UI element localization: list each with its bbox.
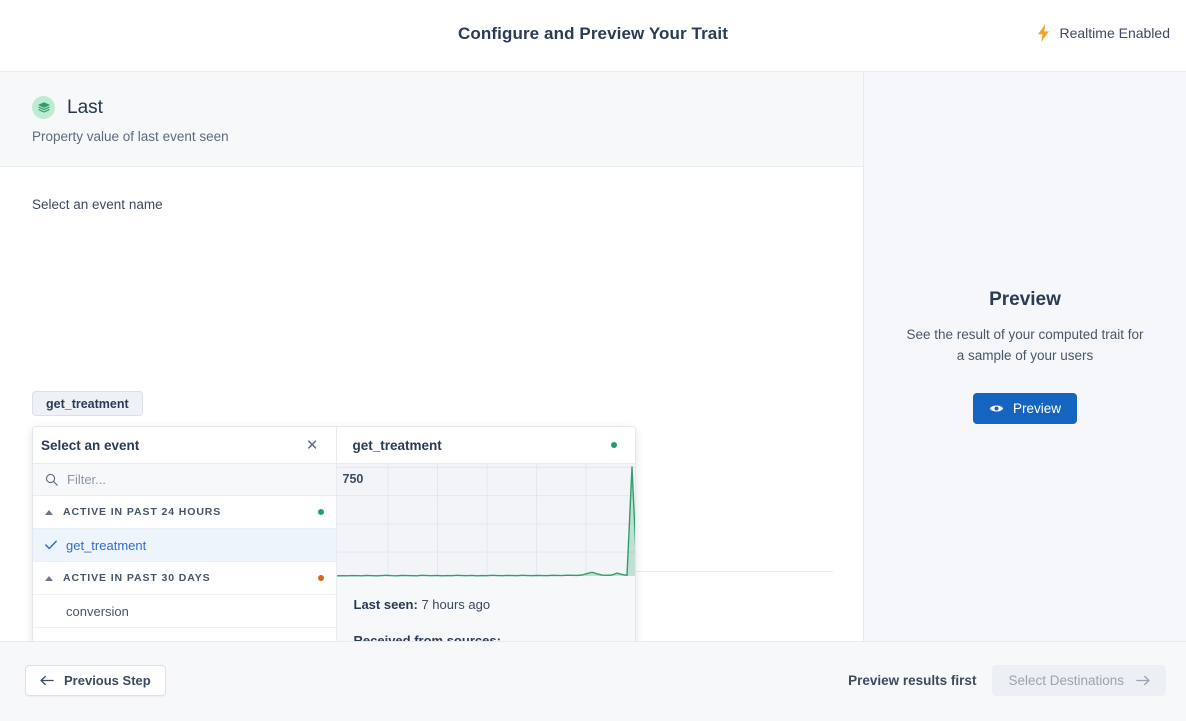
trait-description: Property value of last event seen — [32, 129, 863, 144]
event-name-label: Select an event name — [32, 197, 163, 212]
realtime-label: Realtime Enabled — [1059, 25, 1170, 41]
chevron-up-icon — [45, 576, 53, 581]
preview-side-panel: Preview See the result of your computed … — [863, 72, 1186, 641]
event-group-label-2: ACTIVE IN PAST 30 DAYS — [63, 572, 308, 584]
arrow-right-icon — [1136, 675, 1150, 686]
lightning-bolt-icon — [1037, 24, 1050, 42]
preview-button[interactable]: Preview — [973, 393, 1077, 424]
previous-step-button[interactable]: Previous Step — [25, 665, 166, 696]
filter-row[interactable] — [33, 464, 336, 496]
arrow-left-icon — [40, 675, 54, 686]
event-option-label: get_treatment — [66, 538, 146, 553]
event-list-header: Select an event ✕ — [33, 427, 336, 464]
preview-button-label: Preview — [1013, 401, 1061, 416]
selected-event-chip[interactable]: get_treatment — [32, 391, 143, 416]
layers-stack-icon — [32, 96, 55, 119]
select-destinations-button[interactable]: Select Destinations — [992, 665, 1166, 696]
footer-right-group: Preview results first Select Destination… — [848, 665, 1166, 696]
event-volume-chart: 750 — [337, 464, 636, 576]
sparkline-svg — [337, 464, 637, 577]
event-detail-title: get_treatment — [353, 438, 442, 453]
last-seen-row: Last seen: 7 hours ago — [354, 597, 618, 612]
event-group-label: ACTIVE IN PAST 24 HOURS — [63, 506, 308, 518]
close-icon[interactable]: ✕ — [303, 436, 322, 455]
chart-y-tick-label: 750 — [339, 471, 368, 487]
check-icon — [45, 540, 57, 550]
last-seen-value: 7 hours ago — [421, 597, 490, 612]
event-list-title: Select an event — [41, 438, 139, 453]
event-option-label: conversion — [45, 604, 129, 619]
top-header-bar: Configure and Preview Your Trait Realtim… — [0, 0, 1186, 72]
previous-step-label: Previous Step — [64, 673, 151, 688]
status-dot — [318, 575, 324, 581]
select-destinations-label: Select Destinations — [1008, 673, 1124, 688]
preview-panel-description: See the result of your computed trait fo… — [903, 325, 1148, 367]
app-root: Configure and Preview Your Trait Realtim… — [0, 0, 1186, 721]
event-option-conversion[interactable]: conversion — [33, 595, 336, 628]
event-group-header-2[interactable]: ACTIVE IN PAST 30 DAYS — [33, 562, 336, 595]
event-detail-header: get_treatment — [337, 427, 636, 464]
background-rule — [636, 571, 833, 572]
event-group-header[interactable]: ACTIVE IN PAST 24 HOURS — [33, 496, 336, 529]
search-icon — [45, 473, 58, 486]
main-content-area: Select an event name get_treatment Selec… — [0, 167, 863, 641]
preview-first-hint: Preview results first — [848, 673, 976, 688]
trait-name: Last — [67, 97, 103, 119]
status-dot — [318, 509, 324, 515]
page-title: Configure and Preview Your Trait — [0, 24, 1186, 44]
trait-title-row: Last — [32, 96, 863, 119]
search-input[interactable] — [67, 472, 277, 487]
preview-panel-title: Preview — [989, 289, 1061, 311]
event-option-get-treatment[interactable]: get_treatment — [33, 529, 336, 562]
chevron-up-icon — [45, 510, 53, 515]
trait-header-band: Last Property value of last event seen — [0, 72, 863, 167]
status-dot — [611, 442, 617, 448]
realtime-status: Realtime Enabled — [1037, 24, 1170, 42]
eye-icon — [989, 403, 1004, 414]
last-seen-label: Last seen: — [354, 597, 418, 612]
